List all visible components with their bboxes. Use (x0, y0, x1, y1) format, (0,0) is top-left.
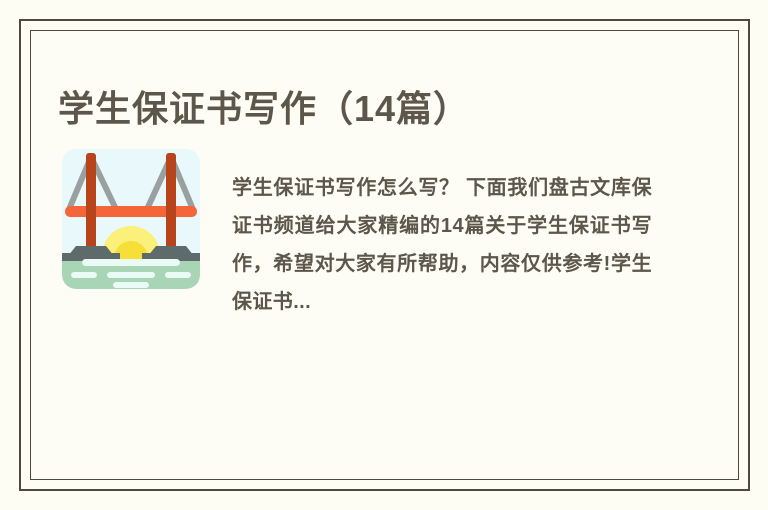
article-preview-row: 学生保证书写作怎么写？ 下面我们盘古文库保证书频道给大家精编的14篇关于学生保证… (62, 149, 702, 341)
suspension-bridge-sunset-icon (62, 149, 200, 289)
article-title: 学生保证书写作（14篇） (58, 86, 470, 132)
article-card-page: 学生保证书写作（14篇） (0, 0, 768, 510)
article-summary: 学生保证书写作怎么写？ 下面我们盘古文库保证书频道给大家精编的14篇关于学生保证… (232, 169, 652, 321)
card-content: 学生保证书写作（14篇） (31, 31, 738, 479)
